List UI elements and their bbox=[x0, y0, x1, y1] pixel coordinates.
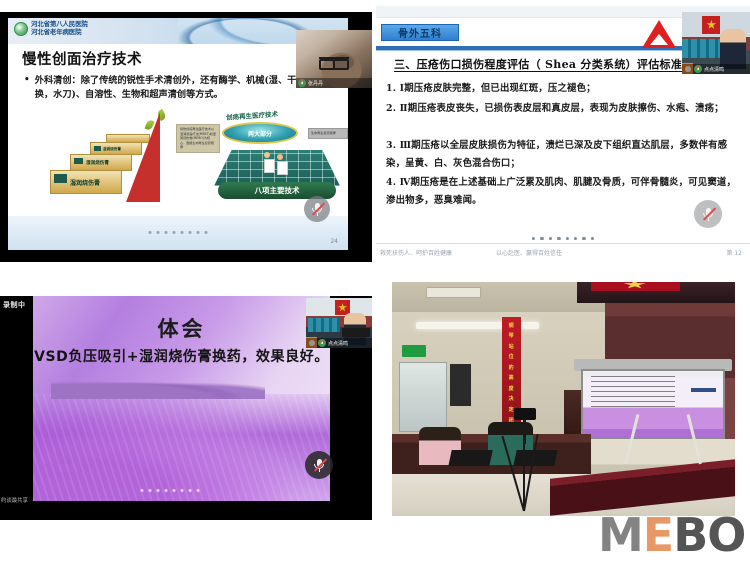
slide-progress-dots[interactable] bbox=[532, 237, 594, 240]
mic-muted-icon bbox=[694, 65, 702, 73]
laptop-icon bbox=[342, 328, 370, 337]
fluorescent-light bbox=[416, 322, 539, 329]
participant-name-bar: 点点清鸣 bbox=[682, 64, 750, 74]
doctor-figures-icon bbox=[264, 152, 294, 178]
slide-item-4: 4. Ⅳ期压疮是在上述基础上广泛累及肌肉、肌腱及骨质，可伴骨髓炎，可见窦道，渗出… bbox=[386, 174, 742, 209]
mic-muted-button[interactable] bbox=[304, 196, 330, 222]
corner-caption: 约谈最共享 bbox=[1, 496, 28, 504]
slide-bullet: • 外科清创：除了传统的锐性手术清创外，还有酶学、机械(湿、干敷料交换，水刀)、… bbox=[24, 74, 330, 102]
slide-progress-dots[interactable] bbox=[140, 489, 199, 492]
watermark-letter-o: O bbox=[707, 508, 745, 562]
speaker-box bbox=[450, 364, 471, 406]
tree-line-background bbox=[51, 378, 265, 399]
conference-room-photo: 铜琴 站位 的高 度决 定团 队 bbox=[392, 282, 735, 516]
department-banner: 骨外五科 bbox=[381, 24, 459, 41]
watermark-letter-m: M bbox=[598, 508, 643, 562]
red-banner bbox=[591, 282, 680, 291]
participant-name: 张丹丹 bbox=[308, 80, 323, 87]
laptop-icon bbox=[449, 450, 494, 466]
footer-page-number: 第 12 bbox=[726, 248, 742, 257]
participant-name: 点点清鸣 bbox=[328, 340, 348, 347]
regen-title: 创疡再生医疗技术 bbox=[226, 108, 279, 122]
chairs-background bbox=[308, 318, 340, 332]
mic-muted-button[interactable] bbox=[694, 200, 722, 228]
panel-top-left-slide[interactable]: 河北省第八人民医院 河北省老年病医院 慢性创面治疗技术 • 外科清创：除了传统的… bbox=[0, 12, 372, 262]
regeneration-diagram: 创疡再生医疗技术 两大部分 生命再生复原规律 八项主要技术 bbox=[204, 106, 350, 212]
red-logo-mark-icon bbox=[642, 20, 676, 48]
screenshot-root: 河北省第八人民医院 河北省老年病医院 慢性创面治疗技术 • 外科清创：除了传统的… bbox=[0, 0, 750, 562]
camera-tripod bbox=[488, 408, 563, 511]
slide-title: 慢性创面治疗技术 bbox=[22, 48, 142, 69]
ointment-label: 湿润烧伤膏 bbox=[86, 160, 109, 166]
footer-divider bbox=[376, 243, 750, 244]
participant-name-bar: 点点清鸣 bbox=[306, 338, 372, 348]
microphone-muted-icon bbox=[313, 458, 326, 472]
flag-icon bbox=[702, 16, 720, 34]
slide-page-number: 24 bbox=[330, 238, 338, 245]
mic-muted-button[interactable] bbox=[305, 451, 333, 479]
mic-muted-icon bbox=[298, 79, 306, 87]
panel-top-right-slide[interactable]: 骨外五科 三、压疮伤口损伤程度评估（ Shea 分类系统）评估标准: 1. Ⅰ期… bbox=[376, 6, 750, 262]
screen-text-block bbox=[591, 376, 675, 408]
slide-subheading: VSD负压吸引+湿润烧伤膏换药，效果良好。 bbox=[33, 346, 330, 366]
ceiling-light-panel bbox=[426, 287, 481, 299]
lavender-field-background bbox=[33, 394, 330, 501]
exit-sign-icon bbox=[402, 345, 426, 357]
department-banner-label: 骨外五科 bbox=[398, 25, 442, 40]
panel-bottom-right-photo[interactable]: 铜琴 站位 的高 度决 定团 队 bbox=[392, 282, 735, 516]
slide-progress-dots[interactable] bbox=[149, 231, 208, 234]
screen-button bbox=[691, 388, 716, 393]
slide-item-2: 2. Ⅱ期压疮表皮丧失，已损伤表皮层和真皮层，表现为皮肤擦伤、水疱、溃疡； bbox=[386, 100, 742, 118]
video-thumbnail-presenter[interactable]: 点点清鸣 bbox=[306, 298, 372, 348]
watermark-letter-e: E bbox=[643, 508, 673, 562]
bullet-text: 外科清创：除了传统的锐性手术清创外，还有酶学、机械(湿、干敷料交换，水刀)、自溶… bbox=[35, 74, 330, 102]
slide-artwork: 湿润烧伤膏 湿润烧伤膏 湿润烧伤膏 烧伤创疡再生医疗技术以湿润暴露疗法(MEBT… bbox=[8, 106, 348, 218]
green-bar-label: 八项主要技术 bbox=[255, 185, 300, 196]
door bbox=[399, 362, 447, 432]
slide-item-3: 3. Ⅲ期压疮以全层皮肤损伤为特征，溃烂已深及皮下组织直达肌层，多数伴有感染，呈… bbox=[386, 137, 742, 172]
watermark-letter-b: B bbox=[673, 508, 707, 562]
ointment-label: 湿润烧伤膏 bbox=[70, 178, 100, 187]
screen-stand bbox=[618, 413, 707, 464]
regen-oval: 两大部分 bbox=[222, 122, 298, 144]
microphone-muted-icon bbox=[311, 202, 324, 216]
hospital-logo: 河北省第八人民医院 河北省老年病医院 bbox=[14, 21, 88, 36]
participant-name-bar: 张丹丹 bbox=[296, 78, 372, 88]
red-ramp-shape bbox=[126, 112, 160, 202]
video-thumbnail-presenter[interactable]: 张丹丹 bbox=[296, 30, 372, 88]
video-thumbnail-presenter[interactable]: 点点清鸣 bbox=[682, 12, 750, 74]
glasses-icon bbox=[319, 57, 349, 64]
ointment-label: 湿润烧伤膏 bbox=[103, 147, 121, 152]
slide-heading: 体会 bbox=[33, 313, 330, 343]
chairs-background bbox=[682, 39, 721, 58]
microphone-muted-icon bbox=[702, 207, 715, 221]
regen-oval-label: 两大部分 bbox=[248, 129, 272, 138]
mic-muted-icon bbox=[318, 339, 326, 347]
footer-center-text: 以心赴医、赢得百姓信任 bbox=[496, 248, 562, 257]
footer-left-text: 救死扶伤人、呵护百姓健康 bbox=[380, 248, 452, 257]
bullet-marker: • bbox=[24, 74, 30, 102]
recording-indicator: 录制中 bbox=[3, 300, 26, 310]
slide-experience: 体会 VSD负压吸引+湿润烧伤膏换药，效果良好。 bbox=[33, 296, 330, 501]
participant-name: 点点清鸣 bbox=[704, 66, 724, 73]
panel-bottom-left-slide[interactable]: 录制中 约谈最共享 体会 VSD负压吸引+湿润烧伤膏换药，效果良好。 bbox=[0, 296, 372, 520]
regen-note: 生命再生复原规律 bbox=[308, 128, 348, 139]
hospital-name-line2: 河北省老年病医院 bbox=[31, 29, 88, 37]
mebo-watermark: MEBO bbox=[598, 512, 745, 558]
hospital-logo-icon bbox=[14, 22, 28, 36]
slide-item-1: 1. Ⅰ期压疮皮肤完整，但已出现红斑，压之褪色； bbox=[386, 80, 742, 98]
